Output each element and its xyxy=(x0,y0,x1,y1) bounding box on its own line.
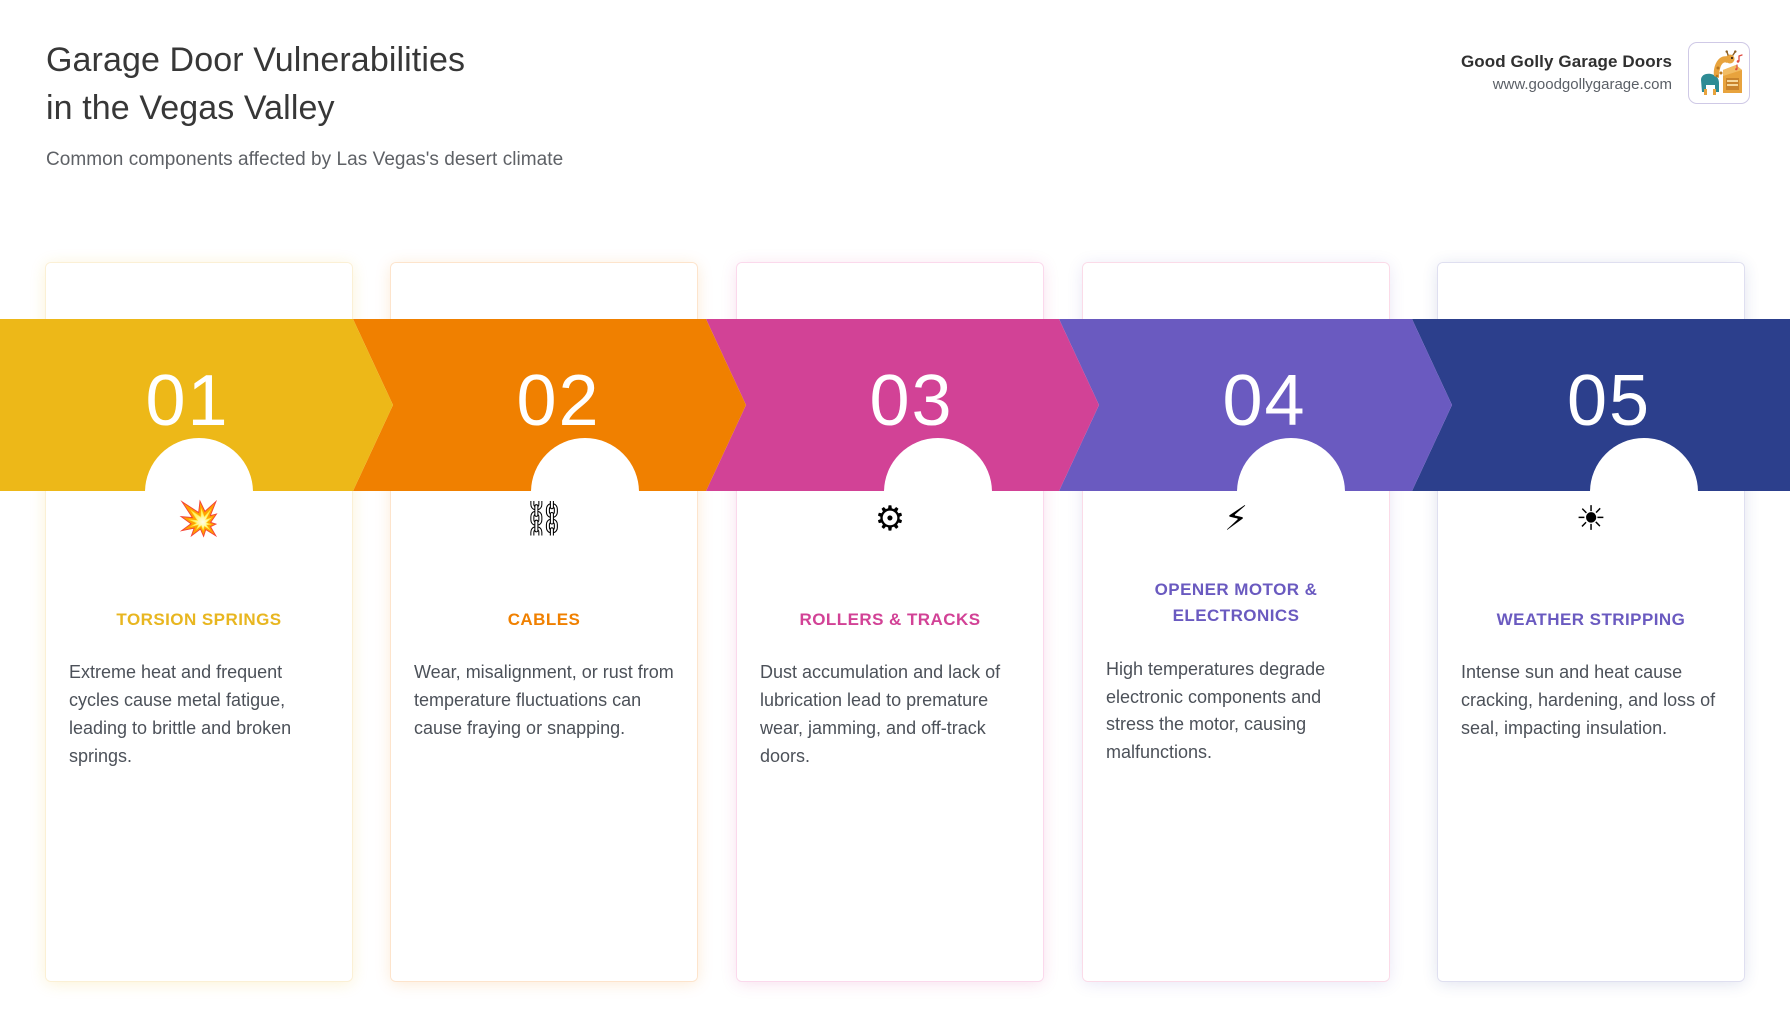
step-card-1-description: Extreme heat and frequent cycles cause m… xyxy=(66,659,332,771)
giraffe-garage-logo-icon xyxy=(1688,42,1750,104)
step-notch-4 xyxy=(1237,438,1345,492)
step-number-banner: 01 02 03 04 05 xyxy=(0,319,1790,491)
step-notch-1 xyxy=(145,438,253,492)
title-block: Garage Door Vulnerabilities in the Vegas… xyxy=(46,36,563,171)
sun-icon: ☀ xyxy=(1458,497,1724,541)
gear-icon: ⚙ xyxy=(757,497,1023,541)
step-number-2: 02 xyxy=(516,365,600,437)
brand-name: Good Golly Garage Doors xyxy=(1461,51,1672,74)
step-number-1: 01 xyxy=(145,365,229,437)
step-card-2-title: Cables xyxy=(411,607,677,633)
step-card-1-content: 💥 Torsion Springs Extreme heat and frequ… xyxy=(46,497,352,771)
step-chevron-5[interactable]: 05 xyxy=(1412,319,1790,491)
step-number-3: 03 xyxy=(869,365,953,437)
brand-url[interactable]: www.goodgollygarage.com xyxy=(1461,74,1672,96)
page-title-line-1: Garage Door Vulnerabilities xyxy=(46,36,563,84)
step-card-2-description: Wear, misalignment, or rust from tempera… xyxy=(411,659,677,743)
step-notch-5 xyxy=(1590,438,1698,492)
infographic-page: Garage Door Vulnerabilities in the Vegas… xyxy=(0,0,1790,1024)
step-card-3-content: ⚙ Rollers & Tracks Dust accumulation and… xyxy=(737,497,1043,771)
brand-text: Good Golly Garage Doors www.goodgollygar… xyxy=(1461,51,1672,96)
step-chevron-4[interactable]: 04 xyxy=(1059,319,1452,491)
step-chevron-1[interactable]: 01 xyxy=(0,319,393,491)
chains-icon: ⛓ xyxy=(411,497,677,541)
step-card-3-title: Rollers & Tracks xyxy=(757,607,1023,633)
step-card-4-content: ⚡ Opener Motor & Electronics High temper… xyxy=(1083,497,1389,767)
brand-block[interactable]: Good Golly Garage Doors www.goodgollygar… xyxy=(1461,42,1750,104)
step-notch-3 xyxy=(884,438,992,492)
step-card-1-title: Torsion Springs xyxy=(66,607,332,633)
step-notch-2 xyxy=(531,438,639,492)
step-card-4-title: Opener Motor & Electronics xyxy=(1103,577,1369,630)
step-card-4-description: High temperatures degrade electronic com… xyxy=(1103,656,1369,768)
step-card-2-content: ⛓ Cables Wear, misalignment, or rust fro… xyxy=(391,497,697,743)
step-card-5-description: Intense sun and heat cause cracking, har… xyxy=(1458,659,1724,743)
page-subtitle: Common components affected by Las Vegas'… xyxy=(46,149,563,171)
step-chevron-3[interactable]: 03 xyxy=(706,319,1099,491)
step-card-5-content: ☀ Weather Stripping Intense sun and heat… xyxy=(1438,497,1744,743)
page-title-line-2: in the Vegas Valley xyxy=(46,84,563,132)
page-header: Garage Door Vulnerabilities in the Vegas… xyxy=(0,0,1790,210)
step-card-3-description: Dust accumulation and lack of lubricatio… xyxy=(757,659,1023,771)
collision-icon: 💥 xyxy=(66,497,332,541)
step-number-4: 04 xyxy=(1222,365,1306,437)
lightning-bolt-icon: ⚡ xyxy=(1103,497,1369,541)
step-number-5: 05 xyxy=(1567,365,1651,437)
step-card-5-title: Weather Stripping xyxy=(1458,607,1724,633)
step-chevron-2[interactable]: 02 xyxy=(353,319,746,491)
